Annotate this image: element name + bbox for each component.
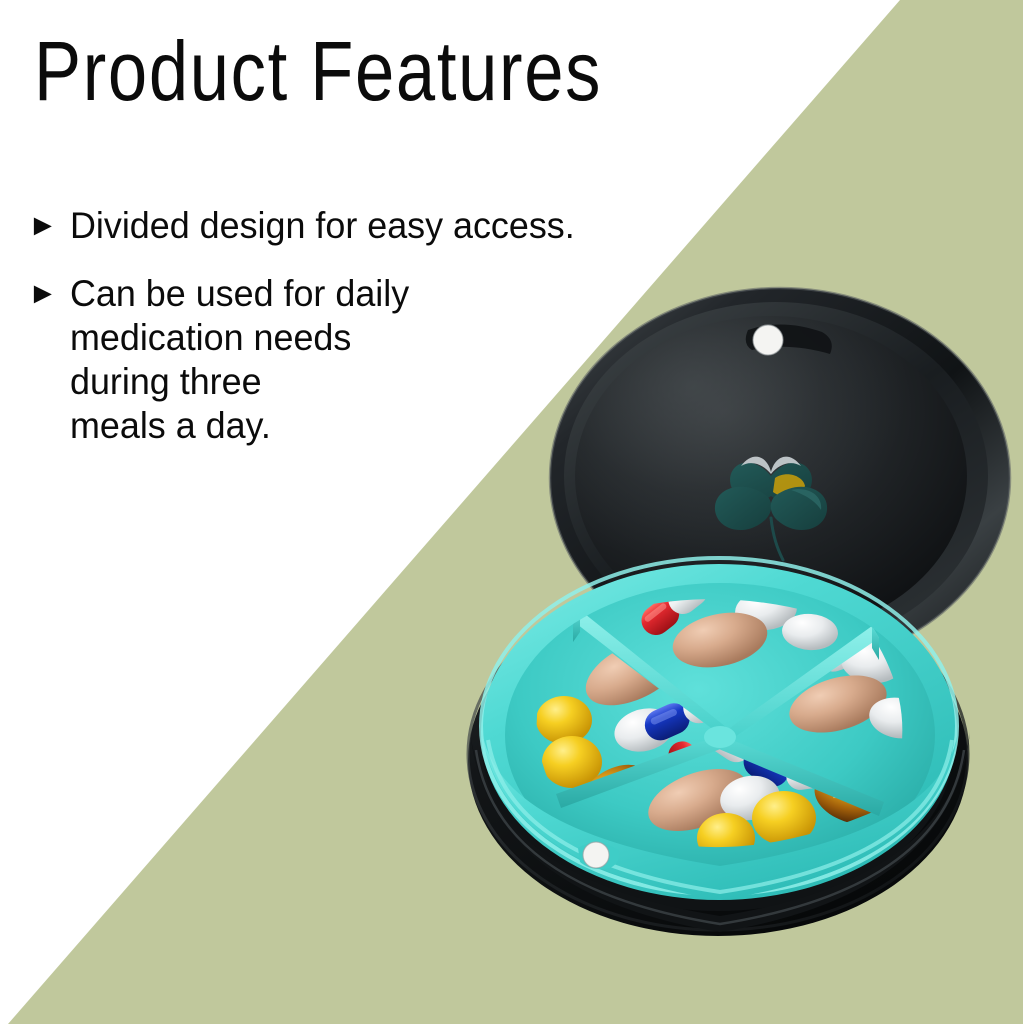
bullet-triangle-icon: ►	[26, 204, 70, 248]
bullet-text: Can be used for daily medication needs d…	[70, 272, 619, 448]
page-title: Product Features	[34, 29, 602, 113]
pill-yellow-round	[536, 696, 592, 744]
slide-canvas: Product Features ► Divided design for ea…	[0, 0, 1023, 1024]
feature-bullet-list: ► Divided design for easy access. ► Can …	[26, 204, 636, 472]
list-item: ► Can be used for daily medication needs…	[26, 272, 636, 448]
bullet-text: Divided design for easy access.	[70, 204, 619, 248]
divider-hub	[704, 726, 736, 748]
list-item: ► Divided design for easy access.	[26, 204, 636, 248]
bullet-triangle-icon: ►	[26, 272, 70, 316]
